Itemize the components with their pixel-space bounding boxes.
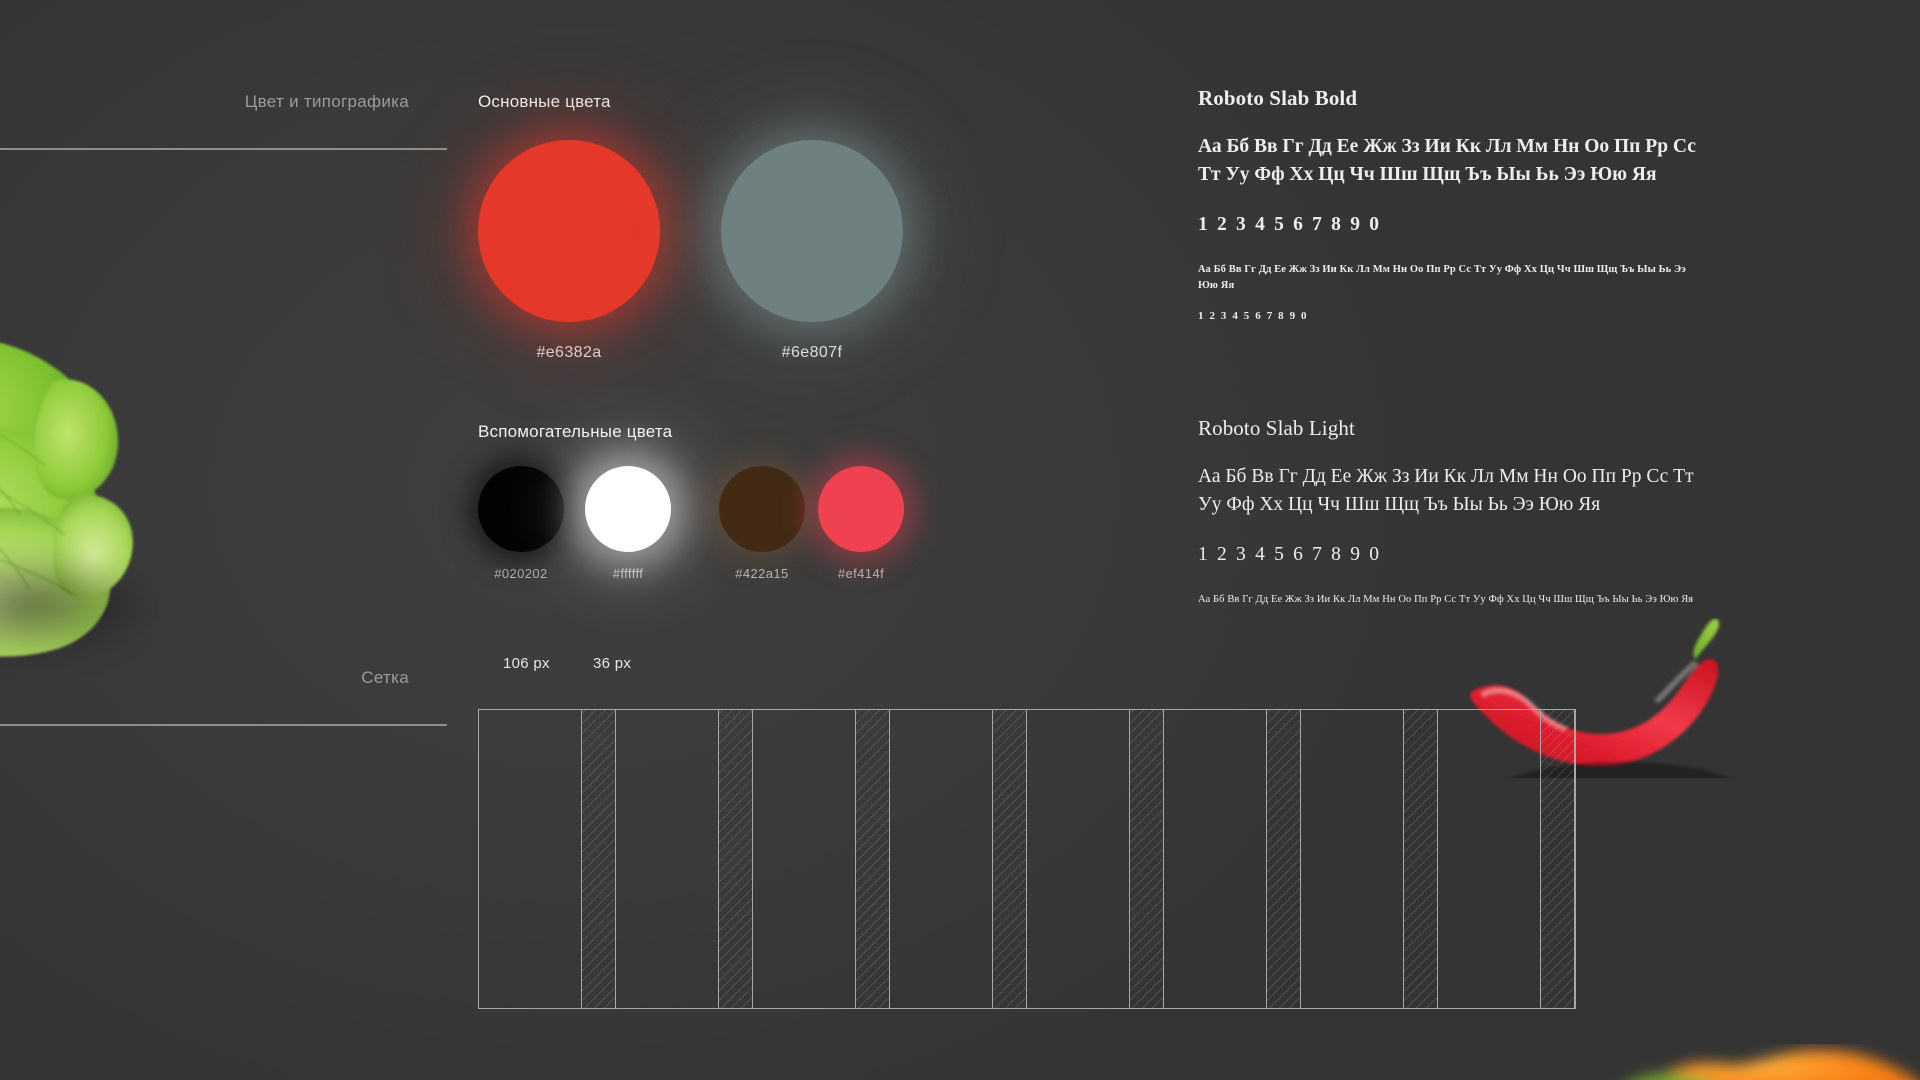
color-dot: [585, 466, 671, 552]
grid-column: [615, 710, 719, 1008]
style-guide-page: Цвет и типографика Сетка: [0, 0, 1920, 1080]
color-swatch-primary-red[interactable]: #e6382a: [478, 140, 660, 362]
font-alphabet-bold-small: Аа Бб Вв Гг Дд Ее Жж Зз Ии Кк Лл Мм Нн О…: [1198, 262, 1698, 294]
grid-diagram: [478, 709, 1576, 1009]
grid-column: [1026, 710, 1130, 1008]
primary-colors-heading: Основные цвета: [478, 92, 611, 112]
secondary-colors-heading: Вспомогательные цвета: [478, 422, 672, 442]
color-hex-label: #020202: [478, 566, 564, 581]
grid-gutter: [1540, 710, 1575, 1008]
color-swatch-white[interactable]: #ffffff: [585, 466, 671, 581]
color-swatch-black[interactable]: #020202: [478, 466, 564, 581]
font-numerals-bold-small: 1 2 3 4 5 6 7 8 9 0: [1198, 310, 1698, 322]
color-dot: [721, 140, 903, 322]
grid-column: [1300, 710, 1404, 1008]
font-name-light: Roboto Slab Light: [1198, 416, 1698, 441]
grid-column: [752, 710, 856, 1008]
font-alphabet-light: Аа Бб Вв Гг Дд Ее Жж Зз Ии Кк Лл Мм Нн О…: [1198, 463, 1698, 518]
grid-gutter: [1403, 710, 1438, 1008]
color-dot: [478, 140, 660, 322]
color-swatch-primary-slate[interactable]: #6e807f: [721, 140, 903, 362]
color-dot: [478, 466, 564, 552]
font-numerals-light: 1 2 3 4 5 6 7 8 9 0: [1198, 544, 1698, 566]
color-swatch-pink-red[interactable]: #ef414f: [818, 466, 904, 581]
grid-gutter: [718, 710, 753, 1008]
grid-column-width-label: 106 px: [503, 655, 550, 672]
color-hex-label: #6e807f: [721, 344, 903, 362]
color-dot: [818, 466, 904, 552]
color-swatch-brown[interactable]: #422a15: [719, 466, 805, 581]
grid-column: [889, 710, 993, 1008]
typography-section: Roboto Slab Bold Аа Бб Вв Гг Дд Ее Жж Зз…: [1198, 86, 1698, 608]
color-hex-label: #ef414f: [818, 566, 904, 581]
grid-gutter: [581, 710, 616, 1008]
grid-column: [1163, 710, 1267, 1008]
color-hex-label: #422a15: [719, 566, 805, 581]
grid-measure-labels: 106 px 36 px: [478, 655, 1576, 693]
font-alphabet-light-small: Аа Бб Вв Гг Дд Ее Жж Зз Ии Кк Лл Мм Нн О…: [1198, 592, 1698, 608]
typography-block-light: Roboto Slab Light Аа Бб Вв Гг Дд Ее Жж З…: [1198, 416, 1698, 608]
font-numerals-bold: 1 2 3 4 5 6 7 8 9 0: [1198, 214, 1698, 236]
font-name-bold: Roboto Slab Bold: [1198, 86, 1698, 111]
typography-block-bold: Roboto Slab Bold Аа Бб Вв Гг Дд Ее Жж Зз…: [1198, 86, 1698, 322]
color-dot: [719, 466, 805, 552]
font-alphabet-bold: Аа Бб Вв Гг Дд Ее Жж Зз Ии Кк Лл Мм Нн О…: [1198, 133, 1698, 188]
grid-gutter: [992, 710, 1027, 1008]
grid-section: 106 px 36 px: [478, 655, 1576, 1009]
main-content: Основные цвета #e6382a #6e807f Вспомогат…: [0, 0, 1920, 1080]
color-hex-label: #e6382a: [478, 344, 660, 362]
grid-gutter: [1129, 710, 1164, 1008]
grid-gutter: [1266, 710, 1301, 1008]
grid-column: [478, 710, 582, 1008]
grid-gutter-width-label: 36 px: [593, 655, 631, 672]
color-hex-label: #ffffff: [585, 566, 671, 581]
grid-gutter: [855, 710, 890, 1008]
grid-column: [1437, 710, 1541, 1008]
